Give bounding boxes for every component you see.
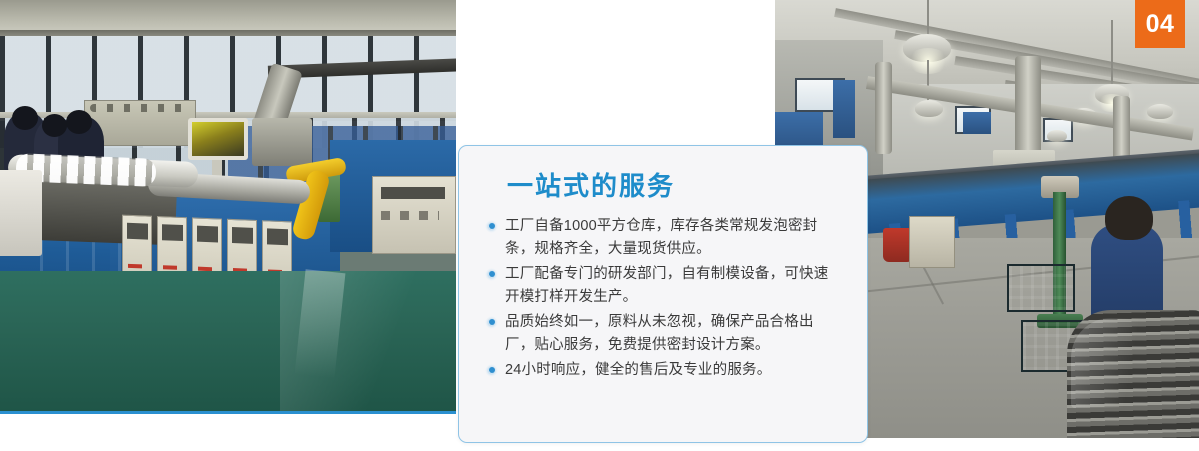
- list-item: 工厂配备专门的研发部门，自有制模设备，可快速开模打样开发生产。: [485, 263, 841, 310]
- diamond-bullet-icon: [485, 316, 498, 329]
- lamp-cord: [1111, 20, 1113, 86]
- blue-window: [963, 112, 991, 134]
- white-control-box: [0, 170, 42, 256]
- step-number-text: 04: [1146, 10, 1175, 39]
- diamond-bullet-icon: [485, 268, 498, 281]
- list-item: 工厂自备1000平方仓库，库存各类常规发泡密封条，规格齐全，大量现货供应。: [485, 215, 841, 262]
- exhaust-hood: [252, 118, 312, 166]
- control-display: [188, 118, 248, 160]
- back-cabinet-knobs: [90, 104, 190, 112]
- worker-head: [66, 110, 92, 134]
- exhaust-duct-riser: [875, 62, 892, 154]
- list-item-text: 24小时响应，健全的售后及专业的服务。: [505, 359, 841, 382]
- worker-head: [1105, 196, 1153, 240]
- list-item: 24小时响应，健全的售后及专业的服务。: [485, 359, 841, 382]
- list-item-text: 工厂自备1000平方仓库，库存各类常规发泡密封条，规格齐全，大量现货供应。: [505, 215, 841, 262]
- worker-head: [42, 114, 67, 137]
- list-item-text: 品质始终如一，原料从未忽视，确保产品合格出厂，贴心服务，免费提供密封设计方案。: [505, 311, 841, 358]
- service-bullet-list: 工厂自备1000平方仓库，库存各类常规发泡密封条，规格齐全，大量现货供应。 工厂…: [485, 215, 841, 382]
- control-box: [909, 216, 955, 268]
- diamond-bullet-icon: [485, 364, 498, 377]
- service-info-card: 一站式的服务 工厂自备1000平方仓库，库存各类常规发泡密封条，规格齐全，大量现…: [458, 145, 868, 443]
- pendant-lamp: [915, 100, 943, 117]
- step-number-badge: 04: [1135, 0, 1185, 48]
- card-title: 一站式的服务: [507, 172, 841, 201]
- blue-door: [833, 80, 855, 138]
- lamp-cord: [927, 0, 929, 36]
- list-item-text: 工厂配备专门的研发部门，自有制模设备，可快速开模打样开发生产。: [505, 263, 841, 310]
- downstream-control-panel: [372, 176, 456, 254]
- factory-photo-left: [0, 0, 456, 414]
- pendant-lamp: [1147, 104, 1173, 119]
- worker-head: [12, 106, 38, 130]
- diamond-bullet-icon: [485, 220, 498, 233]
- coil-highlight: [1071, 318, 1181, 408]
- pendant-lamp: [1047, 130, 1067, 142]
- list-item: 品质始终如一，原料从未忽视，确保产品合格出厂，贴心服务，免费提供密封设计方案。: [485, 311, 841, 358]
- storage-crate: [1007, 264, 1075, 312]
- promo-banner: 04 一站式的服务 工厂自备1000平方仓库，库存各类常规发泡密封条，规格齐全，…: [0, 0, 1199, 451]
